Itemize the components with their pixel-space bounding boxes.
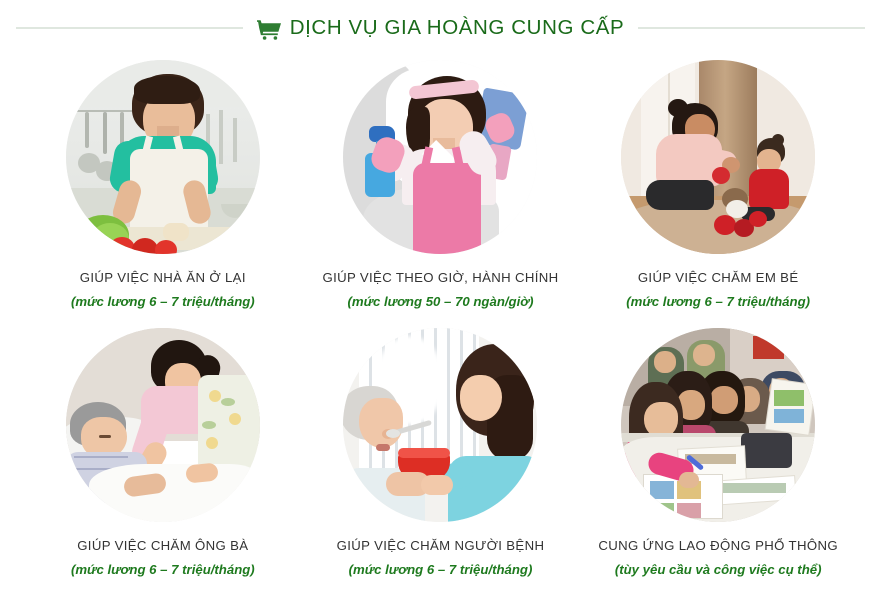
service-price: (mức lương 6 – 7 triệu/tháng): [71, 294, 255, 311]
service-card[interactable]: GIÚP VIỆC CHĂM ÔNG BÀ (mức lương 6 – 7 t…: [24, 328, 302, 578]
services-grid: GIÚP VIỆC NHÀ ĂN Ở LẠI (mức lương 6 – 7 …: [0, 56, 881, 578]
service-price: (mức lương 6 – 7 triệu/tháng): [71, 562, 255, 579]
service-title: GIÚP VIỆC NHÀ ĂN Ở LẠI: [80, 270, 246, 287]
service-card[interactable]: GIÚP VIỆC THEO GIỜ, HÀNH CHÍNH (mức lươn…: [302, 60, 580, 310]
service-thumbnail-labor-supply[interactable]: [621, 328, 815, 522]
header-heading-group: DỊCH VỤ GIA HOÀNG CUNG CẤP: [257, 17, 625, 40]
service-title: GIÚP VIỆC CHĂM EM BÉ: [638, 270, 799, 287]
service-card[interactable]: CUNG ỨNG LAO ĐỘNG PHỔ THÔNG (tùy yêu cầu…: [579, 328, 857, 578]
shopping-cart-icon: [257, 19, 281, 40]
service-title: GIÚP VIỆC CHĂM ÔNG BÀ: [77, 538, 248, 555]
illustration-applicants-filling-forms: [621, 328, 815, 522]
service-card[interactable]: GIÚP VIỆC NHÀ ĂN Ở LẠI (mức lương 6 – 7 …: [24, 60, 302, 310]
service-price: (mức lương 50 – 70 ngàn/giờ): [347, 294, 533, 311]
illustration-feeding-patient: [343, 328, 537, 522]
illustration-woman-cooking: [66, 60, 260, 254]
services-page: DỊCH VỤ GIA HOÀNG CUNG CẤP: [0, 0, 881, 589]
illustration-nurse-and-elderly: [66, 328, 260, 522]
service-card[interactable]: GIÚP VIỆC CHĂM NGƯỜI BỆNH (mức lương 6 –…: [302, 328, 580, 578]
service-price: (mức lương 6 – 7 triệu/tháng): [626, 294, 810, 311]
section-header: DỊCH VỤ GIA HOÀNG CUNG CẤP: [0, 0, 881, 56]
header-rule-left: [16, 27, 243, 29]
service-thumbnail-cleaning[interactable]: [343, 60, 537, 254]
illustration-woman-cleaning: [343, 60, 537, 254]
page-title: DỊCH VỤ GIA HOÀNG CUNG CẤP: [290, 18, 625, 39]
service-thumbnail-childcare[interactable]: [621, 60, 815, 254]
service-price: (mức lương 6 – 7 triệu/tháng): [349, 562, 533, 579]
service-card[interactable]: GIÚP VIỆC CHĂM EM BÉ (mức lương 6 – 7 tr…: [579, 60, 857, 310]
service-thumbnail-elderly-care[interactable]: [66, 328, 260, 522]
header-rule-right: [638, 27, 865, 29]
service-title: CUNG ỨNG LAO ĐỘNG PHỔ THÔNG: [598, 538, 838, 555]
service-price: (tùy yêu cầu và công việc cụ thể): [615, 562, 822, 579]
service-title: GIÚP VIỆC THEO GIỜ, HÀNH CHÍNH: [322, 270, 558, 287]
illustration-nanny-and-toddler: [621, 60, 815, 254]
service-title: GIÚP VIỆC CHĂM NGƯỜI BỆNH: [337, 538, 545, 555]
service-thumbnail-patient-care[interactable]: [343, 328, 537, 522]
service-thumbnail-cooking[interactable]: [66, 60, 260, 254]
